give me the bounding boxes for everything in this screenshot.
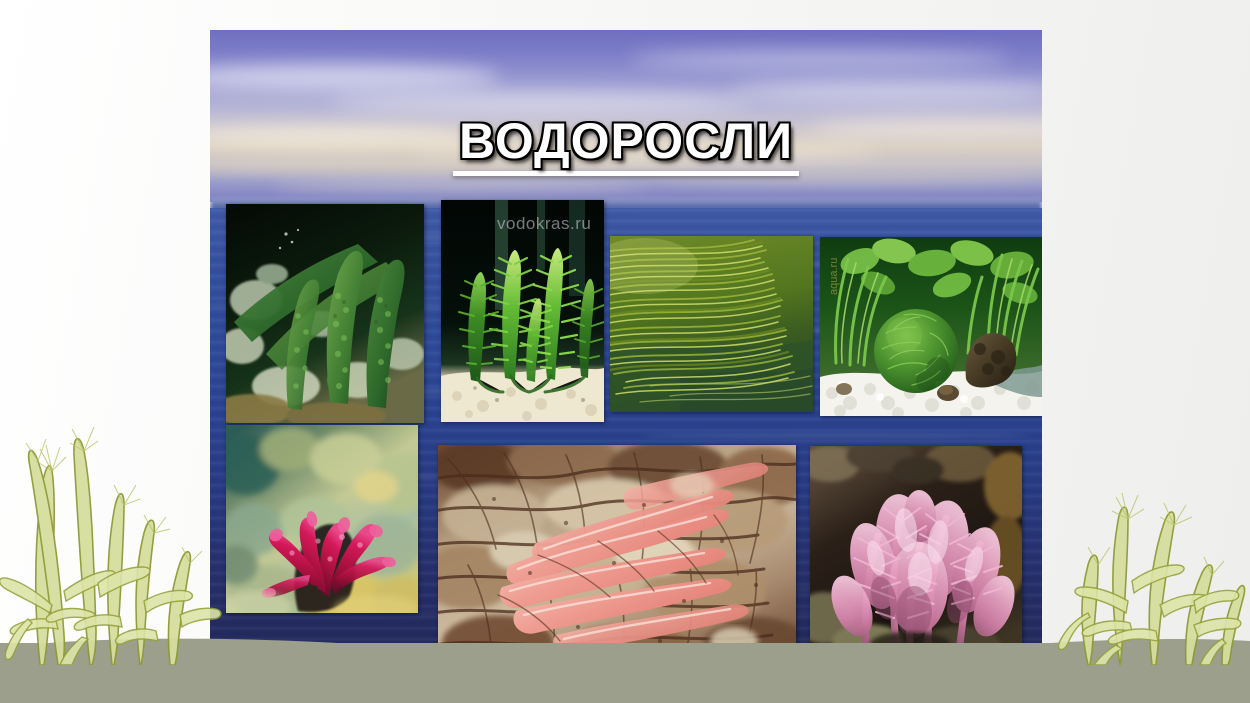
photo-moss-ball-aquarium[interactable]: aqua.ru (820, 237, 1042, 416)
presentation-slide[interactable]: ВОДОРОСЛИ (210, 30, 1042, 648)
photo-filamentous-green-algae[interactable] (610, 236, 813, 412)
photo-crimson-red-algae[interactable] (226, 425, 418, 613)
grass-cluster-right (1026, 455, 1246, 665)
photo-dark-green-sea-algae[interactable] (226, 204, 424, 423)
dark-green-sea-algae-graphic (226, 204, 424, 423)
hornwort-graphic (441, 200, 604, 422)
grass-cluster-left (0, 405, 224, 665)
filamentous-algae-graphic (610, 236, 813, 412)
title-container: ВОДОРОСЛИ (210, 116, 1042, 176)
page-title: ВОДОРОСЛИ (453, 116, 799, 176)
moss-ball-graphic (820, 237, 1042, 416)
slide-viewer: ВОДОРОСЛИ (0, 0, 1250, 703)
photo-pale-pink-algae-on-sand[interactable] (438, 445, 796, 648)
pink-feathery-algae-graphic (810, 446, 1022, 648)
crimson-red-algae-graphic (226, 425, 418, 613)
pale-pink-algae-graphic (438, 445, 796, 648)
photo-hornwort-green-algae[interactable]: vodokras.ru (441, 200, 604, 422)
photo-pink-feathery-red-algae[interactable] (810, 446, 1022, 648)
